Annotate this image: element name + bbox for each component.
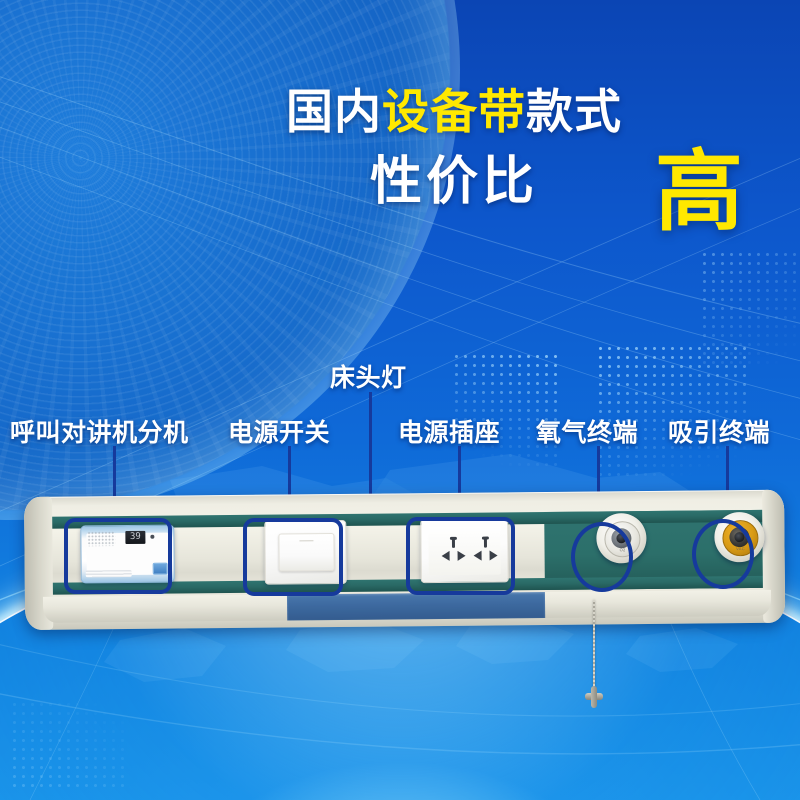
pull-cord-handle[interactable]: [585, 686, 603, 708]
socket-outlet-right[interactable]: [472, 537, 498, 563]
switch-rocker[interactable]: [278, 533, 334, 572]
suction-terminal[interactable]: VAC: [714, 512, 764, 562]
socket-outlet-left[interactable]: [440, 538, 466, 564]
callout-label-intercom: 呼叫对讲机分机: [10, 413, 189, 449]
headline-part-3: 款式: [526, 85, 622, 138]
halftone-dots-3: [700, 250, 800, 370]
headline-part-2: 设备带: [382, 85, 526, 138]
socket-slot-right-icon: [490, 550, 498, 560]
callout-label-bedlamp: 床头灯: [330, 358, 407, 394]
socket-faceplate: [428, 526, 500, 575]
oxygen-terminal-port[interactable]: [616, 533, 626, 543]
socket-slot-right-icon: [458, 551, 466, 561]
pull-cord[interactable]: [593, 600, 595, 688]
halftone-dots-4: [10, 700, 130, 790]
power-switch[interactable]: [264, 520, 347, 585]
halftone-dots-1: [452, 352, 562, 472]
callout-label-switch: 电源开关: [228, 413, 330, 449]
intercom-led-indicator: [150, 535, 154, 539]
power-socket[interactable]: [420, 518, 509, 583]
socket-slot-left-icon: [474, 551, 482, 561]
intercom-call-button[interactable]: [153, 563, 168, 575]
bed-head-unit-panel: 39: [24, 490, 785, 630]
socket-pin-icon: [452, 538, 455, 548]
socket-pin-icon: [484, 538, 487, 548]
socket-slot-left-icon: [442, 551, 450, 561]
callout-label-oxygen: 氧气终端: [536, 413, 638, 449]
headline-line-2-text: 性价比: [370, 153, 538, 211]
poster-canvas: 国内设备带款式 性价比 高 呼叫对讲机分机 电源开关 床头灯 电源插座 氧气终端…: [0, 0, 800, 800]
oxygen-terminal[interactable]: O2: [596, 513, 646, 563]
callout-label-socket: 电源插座: [398, 413, 500, 449]
headline-big-word: 高: [655, 148, 743, 236]
intercom-vent-lines: [86, 570, 132, 577]
switch-mark: [299, 540, 313, 541]
speaker-grille-icon: [87, 531, 115, 546]
suction-terminal-port[interactable]: [734, 532, 744, 542]
pull-cord-handle-vertical: [591, 686, 597, 708]
nurse-call-intercom[interactable]: 39: [80, 525, 175, 584]
headline-part-1: 国内: [286, 85, 382, 138]
bed-lamp-diffuser: [287, 592, 545, 620]
intercom-display: 39: [125, 531, 145, 544]
headline-line-1: 国内设备带款式: [286, 88, 756, 136]
callout-label-suction: 吸引终端: [668, 413, 770, 449]
